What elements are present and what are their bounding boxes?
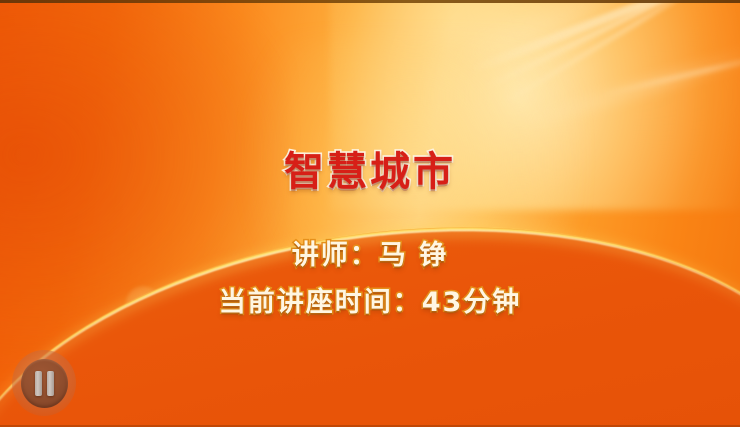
- top-edge-band: [0, 0, 740, 3]
- pause-button[interactable]: [12, 350, 76, 416]
- video-player[interactable]: 智慧城市 讲师：马 铮 当前讲座时间：43分钟: [0, 0, 740, 427]
- slide-title: 智慧城市: [0, 150, 740, 195]
- slide-duration-line: 当前讲座时间：43分钟: [0, 288, 740, 318]
- pause-bar-right: [47, 371, 54, 396]
- pause-icon: [21, 359, 68, 408]
- pause-bar-left: [35, 371, 42, 396]
- slide-lecturer-line: 讲师：马 铮: [0, 241, 740, 271]
